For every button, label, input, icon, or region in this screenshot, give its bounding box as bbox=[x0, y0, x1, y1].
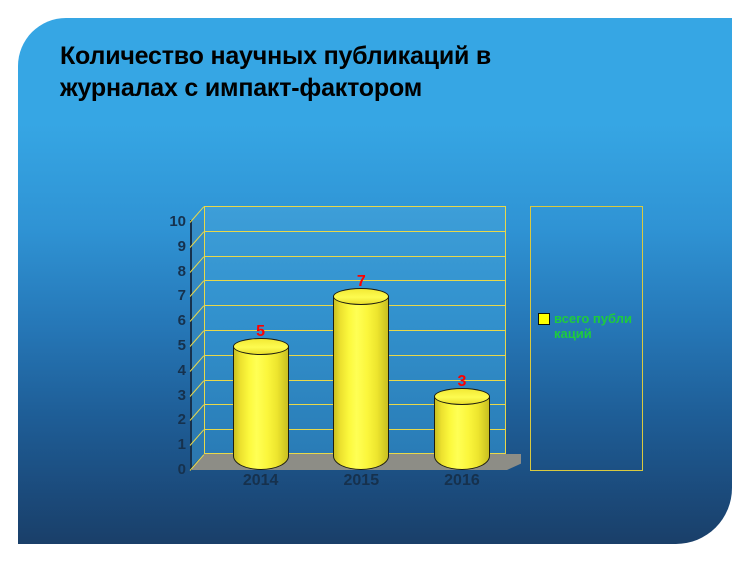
y-axis-tick-label: 4 bbox=[158, 363, 186, 378]
gridline bbox=[204, 256, 506, 257]
y-axis-tick-label: 5 bbox=[158, 338, 186, 353]
y-axis-tick-label: 0 bbox=[158, 462, 186, 477]
y-axis-tick-label: 2 bbox=[158, 412, 186, 427]
chart-legend[interactable]: всего публикаций bbox=[530, 206, 643, 471]
bar-body bbox=[434, 396, 490, 470]
gridline bbox=[204, 231, 506, 232]
page-title: Количество научных публикаций в журналах… bbox=[60, 40, 620, 104]
bar-top-ellipse bbox=[434, 388, 490, 405]
bar-value-label: 3 bbox=[442, 374, 482, 390]
y-axis-labels: 012345678910 bbox=[136, 183, 186, 483]
y-axis-tick-label: 7 bbox=[158, 288, 186, 303]
x-axis-tick-label: 2015 bbox=[316, 473, 406, 489]
y-axis-tick-label: 9 bbox=[158, 239, 186, 254]
y-axis-tick-label: 1 bbox=[158, 437, 186, 452]
legend-swatch-icon bbox=[538, 313, 550, 325]
bar-top-ellipse bbox=[233, 338, 289, 355]
bar-value-label: 5 bbox=[241, 324, 281, 340]
y-axis-tick-label: 3 bbox=[158, 388, 186, 403]
bar-body bbox=[233, 346, 289, 470]
y-axis-tick-label: 6 bbox=[158, 313, 186, 328]
x-axis-tick-label: 2016 bbox=[417, 473, 507, 489]
bar-cylinder[interactable] bbox=[233, 346, 289, 470]
bar-cylinder[interactable] bbox=[434, 396, 490, 470]
y-axis-tick-label: 8 bbox=[158, 264, 186, 279]
x-axis-tick-label: 2014 bbox=[216, 473, 306, 489]
legend-item[interactable]: всего публикаций bbox=[538, 311, 642, 342]
bar-value-label: 7 bbox=[341, 274, 381, 290]
gridline bbox=[204, 206, 506, 207]
legend-item-label: всего публикаций bbox=[554, 311, 636, 342]
bar-cylinder[interactable] bbox=[333, 296, 389, 470]
bar-chart[interactable]: 012345678910 573 201420152016 всего публ… bbox=[136, 183, 676, 493]
slide-canvas: Количество научных публикаций в журналах… bbox=[18, 18, 732, 544]
y-axis-tick-label: 10 bbox=[158, 214, 186, 229]
bar-body bbox=[333, 296, 389, 470]
